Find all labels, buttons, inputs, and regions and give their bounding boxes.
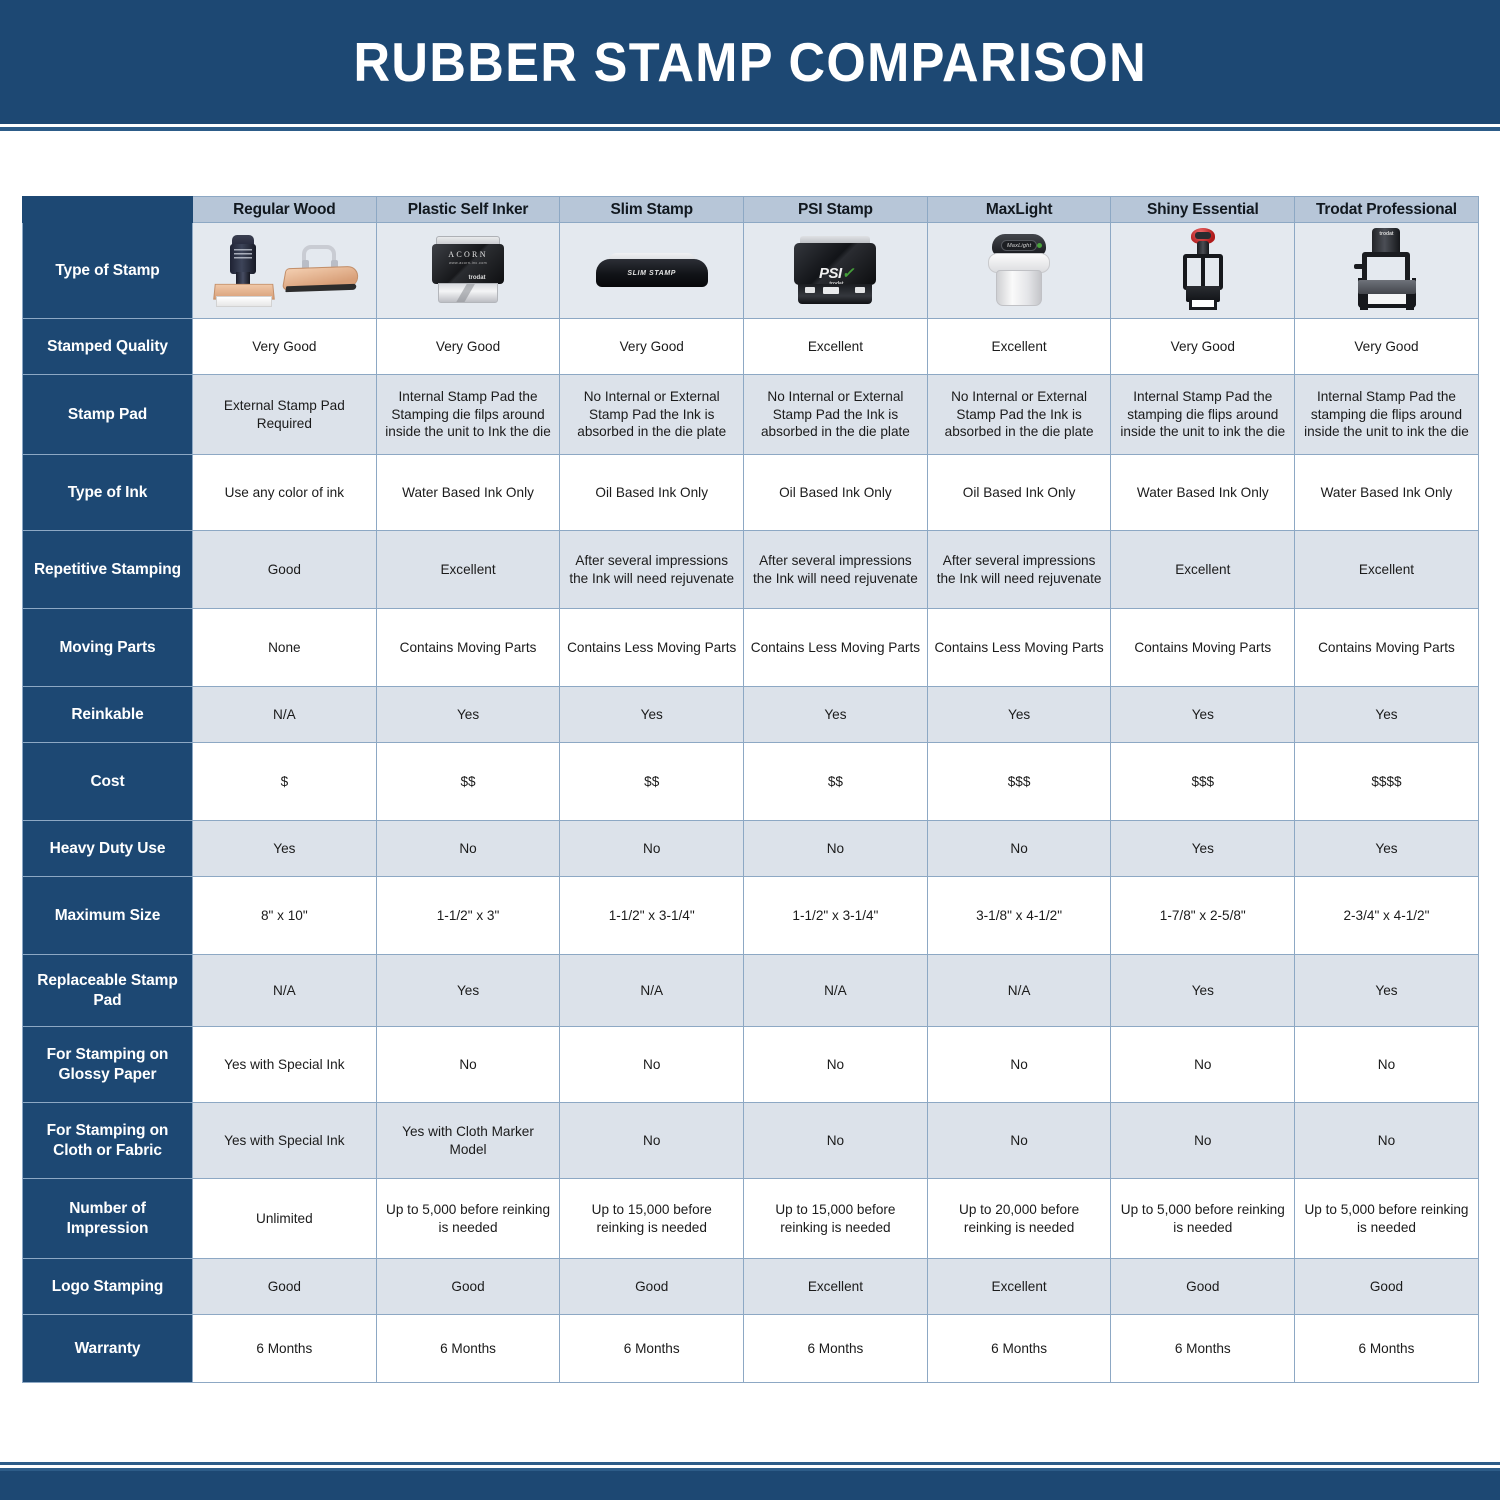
plastic-self-inker-stamp-icon: ACORN www.acorn-inc.com trodat xyxy=(377,225,560,317)
cell-for-stamping-on-glossy-paper-1: No xyxy=(376,1027,560,1103)
banner-divider-bottom xyxy=(0,131,1500,134)
comparison-table-wrapper: Regular Wood Plastic Self Inker Slim Sta… xyxy=(22,196,1478,1383)
cell-moving-parts-5: Contains Moving Parts xyxy=(1111,609,1295,687)
column-header-shiny-essential: Shiny Essential xyxy=(1111,197,1295,223)
cell-reinkable-1: Yes xyxy=(376,687,560,743)
table-row-for-stamping-on-glossy-paper: For Stamping on Glossy PaperYes with Spe… xyxy=(23,1027,1479,1103)
cell-stamp-pad-2: No Internal or External Stamp Pad the In… xyxy=(560,375,744,455)
cell-for-stamping-on-cloth-or-fabric-6: No xyxy=(1295,1103,1479,1179)
cell-logo-stamping-1: Good xyxy=(376,1259,560,1315)
cell-warranty-1: 6 Months xyxy=(376,1315,560,1383)
row-label-number-of-impression: Number of Impression xyxy=(23,1179,193,1259)
cell-maximum-size-2: 1-1/2" x 3-1/4" xyxy=(560,877,744,955)
cell-stamp-pad-5: Internal Stamp Pad the stamping die flip… xyxy=(1111,375,1295,455)
cell-repetitive-stamping-5: Excellent xyxy=(1111,531,1295,609)
cell-repetitive-stamping-3: After several impressions the Ink will n… xyxy=(744,531,928,609)
cell-logo-stamping-3: Excellent xyxy=(744,1259,928,1315)
table-body: Type of Stamp xyxy=(23,223,1479,1383)
cell-repetitive-stamping-4: After several impressions the Ink will n… xyxy=(927,531,1111,609)
table-row-stamp-pad: Stamp PadExternal Stamp Pad RequiredInte… xyxy=(23,375,1479,455)
cell-for-stamping-on-cloth-or-fabric-0: Yes with Special Ink xyxy=(193,1103,377,1179)
cell-cost-2: $$ xyxy=(560,743,744,821)
cell-for-stamping-on-cloth-or-fabric-3: No xyxy=(744,1103,928,1179)
cell-image-slim-stamp: SLIM STAMP xyxy=(560,223,744,319)
cell-reinkable-5: Yes xyxy=(1111,687,1295,743)
cell-type-of-ink-1: Water Based Ink Only xyxy=(376,455,560,531)
cell-heavy-duty-use-0: Yes xyxy=(193,821,377,877)
cell-number-of-impression-3: Up to 15,000 before reinking is needed xyxy=(744,1179,928,1259)
cell-reinkable-0: N/A xyxy=(193,687,377,743)
row-label-type-of-stamp: Type of Stamp xyxy=(23,223,193,319)
table-row-moving-parts: Moving PartsNoneContains Moving PartsCon… xyxy=(23,609,1479,687)
cell-replaceable-stamp-pad-5: Yes xyxy=(1111,955,1295,1027)
cell-logo-stamping-5: Good xyxy=(1111,1259,1295,1315)
cell-maximum-size-5: 1-7/8" x 2-5/8" xyxy=(1111,877,1295,955)
cell-stamp-pad-1: Internal Stamp Pad the Stamping die filp… xyxy=(376,375,560,455)
regular-wood-stamp-icon xyxy=(193,225,376,317)
row-label-warranty: Warranty xyxy=(23,1315,193,1383)
column-header-plastic-self-inker: Plastic Self Inker xyxy=(376,197,560,223)
cell-maximum-size-0: 8" x 10" xyxy=(193,877,377,955)
cell-cost-5: $$$ xyxy=(1111,743,1295,821)
cell-type-of-ink-3: Oil Based Ink Only xyxy=(744,455,928,531)
comparison-table: Regular Wood Plastic Self Inker Slim Sta… xyxy=(22,196,1479,1383)
row-label-stamped-quality: Stamped Quality xyxy=(23,319,193,375)
cell-type-of-ink-2: Oil Based Ink Only xyxy=(560,455,744,531)
page-root: RUBBER STAMP COMPARISON Regular Wood Pla… xyxy=(0,0,1500,1500)
cell-for-stamping-on-glossy-paper-0: Yes with Special Ink xyxy=(193,1027,377,1103)
cell-maximum-size-4: 3-1/8" x 4-1/2" xyxy=(927,877,1111,955)
cell-for-stamping-on-glossy-paper-2: No xyxy=(560,1027,744,1103)
cell-replaceable-stamp-pad-4: N/A xyxy=(927,955,1111,1027)
cell-warranty-2: 6 Months xyxy=(560,1315,744,1383)
cell-stamped-quality-1: Very Good xyxy=(376,319,560,375)
row-label-repetitive-stamping: Repetitive Stamping xyxy=(23,531,193,609)
cell-repetitive-stamping-1: Excellent xyxy=(376,531,560,609)
row-label-type-of-ink: Type of Ink xyxy=(23,455,193,531)
cell-for-stamping-on-cloth-or-fabric-1: Yes with Cloth Marker Model xyxy=(376,1103,560,1179)
cell-stamped-quality-6: Very Good xyxy=(1295,319,1479,375)
row-label-heavy-duty-use: Heavy Duty Use xyxy=(23,821,193,877)
psi-stamp-icon: PSI✓ trodat xyxy=(744,225,927,317)
cell-moving-parts-6: Contains Moving Parts xyxy=(1295,609,1479,687)
cell-number-of-impression-0: Unlimited xyxy=(193,1179,377,1259)
cell-cost-4: $$$ xyxy=(927,743,1111,821)
cell-stamp-pad-4: No Internal or External Stamp Pad the In… xyxy=(927,375,1111,455)
cell-reinkable-6: Yes xyxy=(1295,687,1479,743)
cell-stamped-quality-0: Very Good xyxy=(193,319,377,375)
table-header-row: Regular Wood Plastic Self Inker Slim Sta… xyxy=(23,197,1479,223)
footer-banner xyxy=(0,1471,1500,1500)
cell-replaceable-stamp-pad-3: N/A xyxy=(744,955,928,1027)
table-head: Regular Wood Plastic Self Inker Slim Sta… xyxy=(23,197,1479,223)
cell-moving-parts-2: Contains Less Moving Parts xyxy=(560,609,744,687)
table-row-heavy-duty-use: Heavy Duty UseYesNoNoNoNoYesYes xyxy=(23,821,1479,877)
cell-number-of-impression-1: Up to 5,000 before reinking is needed xyxy=(376,1179,560,1259)
cell-for-stamping-on-glossy-paper-6: No xyxy=(1295,1027,1479,1103)
column-header-trodat-professional: Trodat Professional xyxy=(1295,197,1479,223)
cell-reinkable-2: Yes xyxy=(560,687,744,743)
cell-replaceable-stamp-pad-0: N/A xyxy=(193,955,377,1027)
cell-cost-3: $$ xyxy=(744,743,928,821)
cell-warranty-4: 6 Months xyxy=(927,1315,1111,1383)
cell-warranty-5: 6 Months xyxy=(1111,1315,1295,1383)
cell-number-of-impression-4: Up to 20,000 before reinking is needed xyxy=(927,1179,1111,1259)
cell-cost-0: $ xyxy=(193,743,377,821)
cell-stamp-pad-6: Internal Stamp Pad the stamping die flip… xyxy=(1295,375,1479,455)
cell-moving-parts-4: Contains Less Moving Parts xyxy=(927,609,1111,687)
trodat-professional-stamp-icon xyxy=(1295,225,1478,317)
table-row-maximum-size: Maximum Size8" x 10"1-1/2" x 3"1-1/2" x … xyxy=(23,877,1479,955)
cell-moving-parts-0: None xyxy=(193,609,377,687)
cell-stamped-quality-5: Very Good xyxy=(1111,319,1295,375)
cell-logo-stamping-6: Good xyxy=(1295,1259,1479,1315)
row-label-maximum-size: Maximum Size xyxy=(23,877,193,955)
cell-reinkable-3: Yes xyxy=(744,687,928,743)
cell-maximum-size-6: 2-3/4" x 4-1/2" xyxy=(1295,877,1479,955)
cell-heavy-duty-use-4: No xyxy=(927,821,1111,877)
page-title: RUBBER STAMP COMPARISON xyxy=(353,30,1147,94)
cell-image-plastic-self-inker: ACORN www.acorn-inc.com trodat xyxy=(376,223,560,319)
column-header-psi-stamp: PSI Stamp xyxy=(744,197,928,223)
maxlight-stamp-icon: MaxLight xyxy=(928,225,1111,317)
cell-stamped-quality-4: Excellent xyxy=(927,319,1111,375)
cell-repetitive-stamping-0: Good xyxy=(193,531,377,609)
cell-heavy-duty-use-3: No xyxy=(744,821,928,877)
table-corner-cell xyxy=(23,197,193,223)
cell-for-stamping-on-cloth-or-fabric-2: No xyxy=(560,1103,744,1179)
cell-stamp-pad-0: External Stamp Pad Required xyxy=(193,375,377,455)
cell-number-of-impression-2: Up to 15,000 before reinking is needed xyxy=(560,1179,744,1259)
column-header-maxlight: MaxLight xyxy=(927,197,1111,223)
cell-stamped-quality-3: Excellent xyxy=(744,319,928,375)
cell-type-of-ink-4: Oil Based Ink Only xyxy=(927,455,1111,531)
table-row-logo-stamping: Logo StampingGoodGoodGoodExcellentExcell… xyxy=(23,1259,1479,1315)
cell-logo-stamping-0: Good xyxy=(193,1259,377,1315)
row-label-logo-stamping: Logo Stamping xyxy=(23,1259,193,1315)
table-row-type-of-ink: Type of InkUse any color of inkWater Bas… xyxy=(23,455,1479,531)
cell-heavy-duty-use-5: Yes xyxy=(1111,821,1295,877)
cell-cost-6: $$$$ xyxy=(1295,743,1479,821)
cell-replaceable-stamp-pad-1: Yes xyxy=(376,955,560,1027)
cell-warranty-6: 6 Months xyxy=(1295,1315,1479,1383)
column-header-slim-stamp: Slim Stamp xyxy=(560,197,744,223)
cell-stamp-pad-3: No Internal or External Stamp Pad the In… xyxy=(744,375,928,455)
cell-type-of-ink-6: Water Based Ink Only xyxy=(1295,455,1479,531)
cell-warranty-3: 6 Months xyxy=(744,1315,928,1383)
cell-type-of-ink-0: Use any color of ink xyxy=(193,455,377,531)
table-row-replaceable-stamp-pad: Replaceable Stamp PadN/AYesN/AN/AN/AYesY… xyxy=(23,955,1479,1027)
cell-heavy-duty-use-6: Yes xyxy=(1295,821,1479,877)
cell-repetitive-stamping-6: Excellent xyxy=(1295,531,1479,609)
row-label-for-stamping-on-glossy-paper: For Stamping on Glossy Paper xyxy=(23,1027,193,1103)
cell-image-maxlight: MaxLight xyxy=(927,223,1111,319)
cell-logo-stamping-2: Good xyxy=(560,1259,744,1315)
cell-type-of-ink-5: Water Based Ink Only xyxy=(1111,455,1295,531)
cell-moving-parts-3: Contains Less Moving Parts xyxy=(744,609,928,687)
cell-image-regular-wood xyxy=(193,223,377,319)
table-row-type-of-stamp: Type of Stamp xyxy=(23,223,1479,319)
row-label-cost: Cost xyxy=(23,743,193,821)
cell-heavy-duty-use-1: No xyxy=(376,821,560,877)
cell-warranty-0: 6 Months xyxy=(193,1315,377,1383)
cell-for-stamping-on-glossy-paper-5: No xyxy=(1111,1027,1295,1103)
cell-heavy-duty-use-2: No xyxy=(560,821,744,877)
cell-repetitive-stamping-2: After several impressions the Ink will n… xyxy=(560,531,744,609)
row-label-moving-parts: Moving Parts xyxy=(23,609,193,687)
shiny-essential-stamp-icon xyxy=(1111,225,1294,317)
cell-number-of-impression-5: Up to 5,000 before reinking is needed xyxy=(1111,1179,1295,1259)
row-label-stamp-pad: Stamp Pad xyxy=(23,375,193,455)
cell-for-stamping-on-cloth-or-fabric-5: No xyxy=(1111,1103,1295,1179)
cell-number-of-impression-6: Up to 5,000 before reinking is needed xyxy=(1295,1179,1479,1259)
cell-replaceable-stamp-pad-6: Yes xyxy=(1295,955,1479,1027)
slim-stamp-icon: SLIM STAMP xyxy=(560,225,743,317)
cell-reinkable-4: Yes xyxy=(927,687,1111,743)
table-row-stamped-quality: Stamped QualityVery GoodVery GoodVery Go… xyxy=(23,319,1479,375)
cell-stamped-quality-2: Very Good xyxy=(560,319,744,375)
cell-image-trodat-professional xyxy=(1295,223,1479,319)
table-row-warranty: Warranty6 Months6 Months6 Months6 Months… xyxy=(23,1315,1479,1383)
cell-for-stamping-on-glossy-paper-4: No xyxy=(927,1027,1111,1103)
row-label-for-stamping-on-cloth-or-fabric: For Stamping on Cloth or Fabric xyxy=(23,1103,193,1179)
cell-for-stamping-on-glossy-paper-3: No xyxy=(744,1027,928,1103)
column-header-regular-wood: Regular Wood xyxy=(193,197,377,223)
cell-maximum-size-3: 1-1/2" x 3-1/4" xyxy=(744,877,928,955)
header-banner: RUBBER STAMP COMPARISON xyxy=(0,0,1500,124)
table-row-for-stamping-on-cloth-or-fabric: For Stamping on Cloth or FabricYes with … xyxy=(23,1103,1479,1179)
cell-replaceable-stamp-pad-2: N/A xyxy=(560,955,744,1027)
table-row-cost: Cost$$$$$$$$$$$$$$$$$ xyxy=(23,743,1479,821)
table-row-reinkable: ReinkableN/AYesYesYesYesYesYes xyxy=(23,687,1479,743)
cell-logo-stamping-4: Excellent xyxy=(927,1259,1111,1315)
cell-maximum-size-1: 1-1/2" x 3" xyxy=(376,877,560,955)
row-label-replaceable-stamp-pad: Replaceable Stamp Pad xyxy=(23,955,193,1027)
cell-image-psi-stamp: PSI✓ trodat xyxy=(744,223,928,319)
cell-moving-parts-1: Contains Moving Parts xyxy=(376,609,560,687)
cell-for-stamping-on-cloth-or-fabric-4: No xyxy=(927,1103,1111,1179)
table-row-repetitive-stamping: Repetitive StampingGoodExcellentAfter se… xyxy=(23,531,1479,609)
table-row-number-of-impression: Number of ImpressionUnlimitedUp to 5,000… xyxy=(23,1179,1479,1259)
cell-cost-1: $$ xyxy=(376,743,560,821)
cell-image-shiny-essential xyxy=(1111,223,1295,319)
row-label-reinkable: Reinkable xyxy=(23,687,193,743)
